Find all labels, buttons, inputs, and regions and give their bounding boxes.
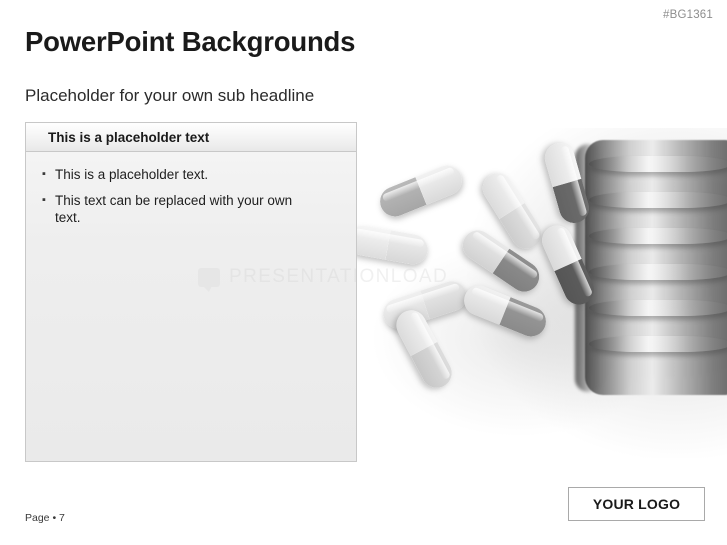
content-box-title: This is a placeholder text xyxy=(48,130,209,145)
bullet-icon: ▪ xyxy=(42,192,55,209)
bullet-icon: ▪ xyxy=(42,166,55,183)
list-item-label: This text can be replaced with your own … xyxy=(55,192,300,226)
content-placeholder-box: This is a placeholder text ▪ This is a p… xyxy=(25,122,357,462)
pill-bottle xyxy=(575,140,727,400)
capsules-photo xyxy=(330,118,727,458)
content-box-header: This is a placeholder text xyxy=(26,123,356,152)
page-subtitle: Placeholder for your own sub headline xyxy=(25,86,314,106)
bottle-thread xyxy=(589,228,727,244)
background-code: #BG1361 xyxy=(663,9,713,21)
slide: #BG1361 PowerPoint Backgrounds Placehold… xyxy=(0,0,727,545)
bottle-thread xyxy=(589,300,727,316)
logo-placeholder-label: YOUR LOGO xyxy=(593,496,680,512)
bottle-thread xyxy=(589,336,727,352)
bottle-thread xyxy=(589,156,727,172)
list-item: ▪ This is a placeholder text. xyxy=(42,166,342,183)
logo-placeholder[interactable]: YOUR LOGO xyxy=(568,487,705,521)
page-number: Page • 7 xyxy=(25,512,65,524)
list-item-label: This is a placeholder text. xyxy=(55,166,208,183)
list-item: ▪ This text can be replaced with your ow… xyxy=(42,192,342,226)
page-title: PowerPoint Backgrounds xyxy=(25,26,355,58)
content-box-body: ▪ This is a placeholder text. ▪ This tex… xyxy=(26,152,356,461)
bottle-thread xyxy=(589,264,727,280)
bottle-thread xyxy=(589,192,727,208)
